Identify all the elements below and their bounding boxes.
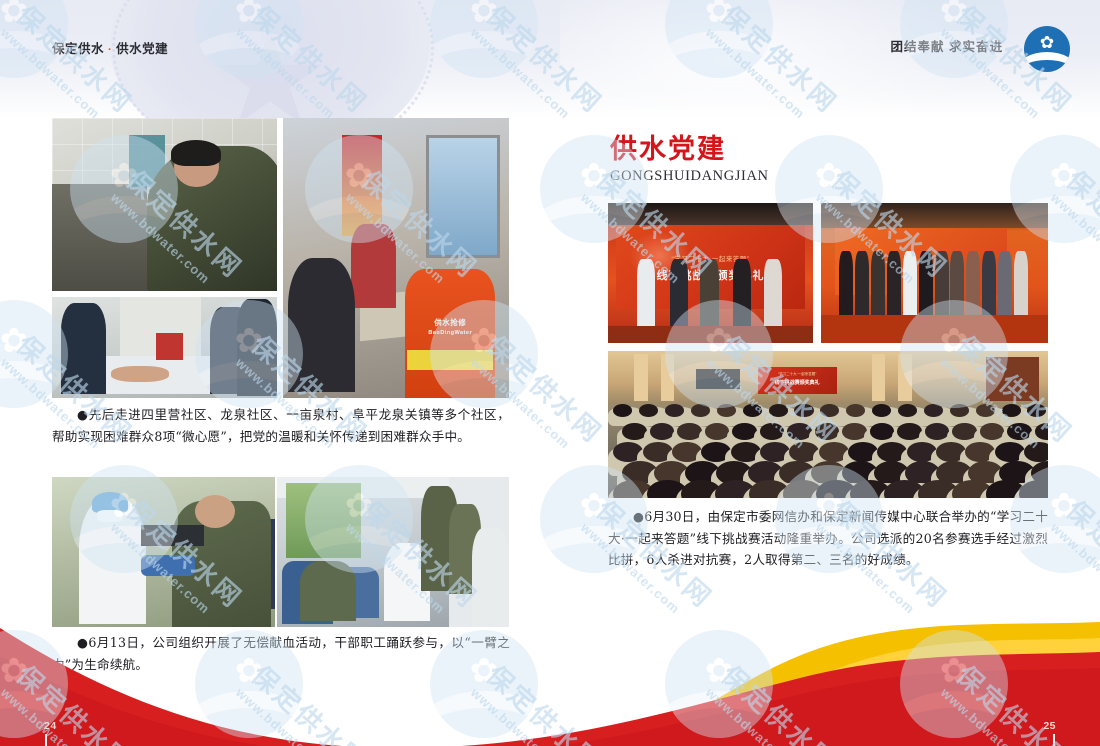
hall-attendee-head — [787, 423, 812, 440]
hall-attendee-head — [842, 423, 867, 440]
hall-attendee-head — [622, 423, 647, 440]
photo-scene-award-stage: “学习二十大·一起来答题” 线下挑战赛颁奖典礼 — [608, 203, 813, 343]
hall-attendee-head — [794, 404, 813, 417]
hall-attendee-head — [650, 423, 675, 440]
photo-scene-award-group — [821, 203, 1048, 343]
hall-attendee-head — [898, 404, 917, 417]
page-title-cn: 供水党建 — [610, 136, 769, 164]
right-caption-challenge: ●6月30日，由保定市委网信办和保定新闻传媒中心联合举办的“学习二十大·一起来答… — [608, 506, 1048, 571]
header-left-section: 供水党建 — [116, 42, 168, 56]
light-sheen — [560, 0, 980, 118]
photo-scene-hospital — [52, 297, 277, 398]
page-number-right-value: 25 — [1043, 720, 1056, 732]
logo-wave-blue — [1024, 60, 1070, 72]
hall-attendee-head — [743, 404, 762, 417]
hall-attendee-head — [925, 423, 950, 440]
hall-stage-screen: “学习二十大·一起来答题” 线下挑战赛颁奖典礼 — [758, 367, 837, 393]
running-header-slogan: 团结奉献 求实奋进 — [891, 36, 1003, 55]
hall-attendee-head — [769, 404, 788, 417]
hall-attendee-head — [1002, 404, 1021, 417]
page-title-en: GONGSHUIDANGJIAN — [610, 168, 769, 185]
photo-award-group — [821, 203, 1048, 343]
page-number-left-value: 24 — [44, 720, 57, 732]
top-decorative-band — [0, 0, 1100, 118]
logo-splash-glyph: ✿ — [1036, 35, 1058, 52]
watermark-text-cn: 保定供水网 — [1059, 161, 1100, 286]
hall-attendee-head — [677, 423, 702, 440]
hall-attendee-head — [760, 423, 785, 440]
hall-screen-line1: “学习二十大·一起来答题” — [761, 372, 834, 377]
magazine-spread: 保定供水 · 供水党建 团结奉献 求实奋进 ✿ 供水抢修 — [0, 0, 1100, 746]
page-title: 供水党建 GONGSHUIDANGJIAN — [610, 136, 769, 185]
hall-attendee-head — [639, 404, 658, 417]
photo-home-visit: 供水抢修 BaoDingWater — [283, 118, 509, 398]
photo-faucet-repair — [52, 118, 277, 291]
hall-attendee-head — [613, 404, 632, 417]
hall-attendee-head — [846, 404, 865, 417]
hall-attendee-head — [820, 404, 839, 417]
page-number-right: 25 — [1043, 720, 1056, 732]
watermark-text: 保定供水网www.bdwater.com — [1048, 161, 1100, 298]
hall-attendee-head — [665, 404, 684, 417]
hall-attendee-head — [732, 423, 757, 440]
hall-attendee-head — [717, 404, 736, 417]
company-logo-icon: ✿ — [1024, 26, 1070, 72]
hall-screen-line2: 线下挑战赛颁奖典礼 — [761, 379, 834, 386]
hall-attendee-head — [950, 404, 969, 417]
left-caption-community: ●先后走进四里营社区、龙泉社区、一亩泉村、阜平龙泉关镇等多个社区，帮助实现困难群… — [52, 404, 510, 447]
photo-hospital-visit — [52, 297, 277, 398]
header-separator-icon: · — [108, 44, 112, 56]
vest-label-en: BaoDingWater — [428, 330, 472, 336]
hall-attendee-head — [976, 404, 995, 417]
vest-label: 供水抢修 BaoDingWater — [412, 319, 489, 336]
wave-svg — [0, 586, 1100, 746]
hall-attendee-head — [870, 423, 895, 440]
hall-attendee-head — [705, 423, 730, 440]
hall-attendee-head — [980, 423, 1005, 440]
photo-conference-hall: “学习二十大·一起来答题” 线下挑战赛颁奖典礼 — [608, 351, 1048, 498]
page-number-left: 24 — [44, 720, 57, 732]
photo-award-ceremony-stage: “学习二十大·一起来答题” 线下挑战赛颁奖典礼 — [608, 203, 813, 343]
hall-attendee-head — [815, 423, 840, 440]
photo-scene-home-visit: 供水抢修 BaoDingWater — [283, 118, 509, 398]
hall-attendee-head — [1027, 404, 1046, 417]
photo-scene-kitchen — [52, 118, 277, 291]
page-number-rule-right — [1053, 734, 1055, 746]
page-number-rule-left — [45, 734, 47, 746]
hall-attendee-head — [872, 404, 891, 417]
bottom-wave-decoration — [0, 586, 1100, 746]
hall-attendee-head — [924, 404, 943, 417]
running-header-left: 保定供水 · 供水党建 — [52, 38, 168, 57]
watermark-text-en: www.bdwater.com — [1048, 190, 1100, 298]
hall-attendee-head — [1007, 423, 1032, 440]
vest-label-cn: 供水抢修 — [434, 318, 466, 327]
hall-attendee-head — [897, 423, 922, 440]
photo-scene-conference-hall: “学习二十大·一起来答题” 线下挑战赛颁奖典礼 — [608, 351, 1048, 498]
header-left-text: 保定供水 — [52, 42, 104, 56]
hall-attendee-head — [691, 404, 710, 417]
hall-attendee-head — [952, 423, 977, 440]
